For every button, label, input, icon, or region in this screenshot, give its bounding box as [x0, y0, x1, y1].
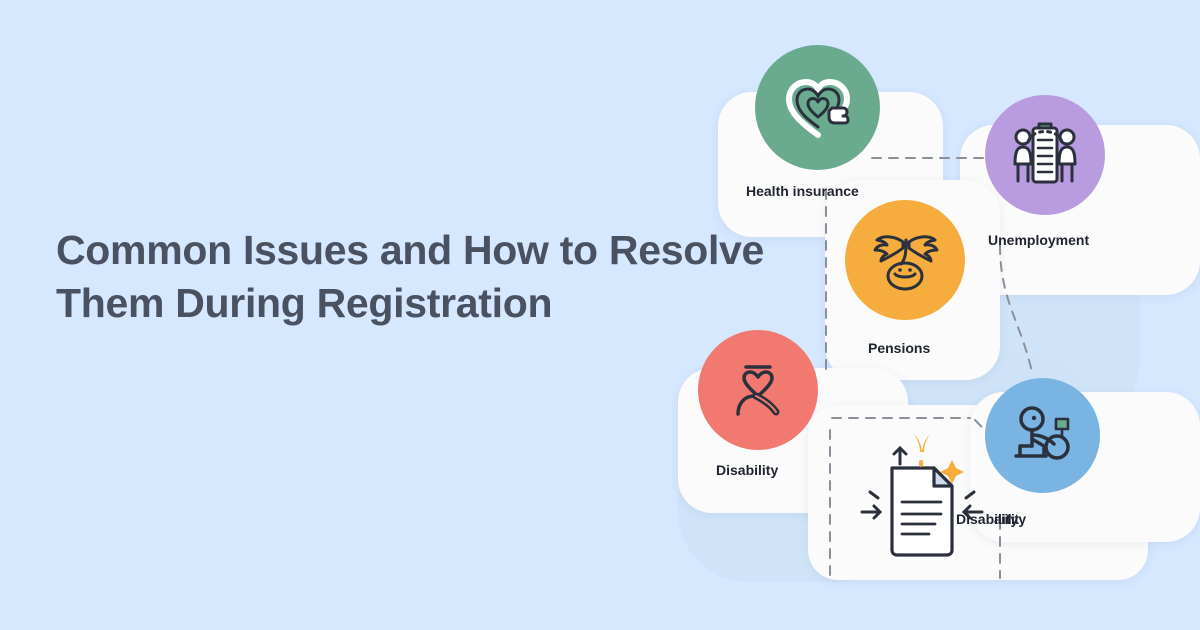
two-people-clipboard-icon: [1006, 116, 1084, 194]
person-heart-icon: [720, 352, 796, 428]
document-with-arrows-icon: [840, 430, 1000, 570]
winged-money-icon: [867, 222, 943, 298]
heart-in-hand-icon: [779, 69, 857, 147]
card-label-unemployment: Unemployment: [988, 232, 1089, 248]
card-label-health-insurance: Health insurance: [746, 183, 859, 199]
card-label-disability: Disability: [716, 462, 778, 478]
icon-bubble-disability[interactable]: [698, 330, 818, 450]
banner-root: Common Issues and How to Resolve Them Du…: [0, 0, 1200, 630]
icon-bubble-disability-aid[interactable]: [985, 378, 1100, 493]
diagram-illustration: Health insurance: [640, 0, 1200, 630]
icon-bubble-unemployment[interactable]: [985, 95, 1105, 215]
icon-bubble-health-insurance[interactable]: [755, 45, 880, 170]
icon-bubble-pensions[interactable]: [845, 200, 965, 320]
wheelchair-person-icon: [1006, 399, 1080, 473]
card-label-pensions: Pensions: [868, 340, 930, 356]
